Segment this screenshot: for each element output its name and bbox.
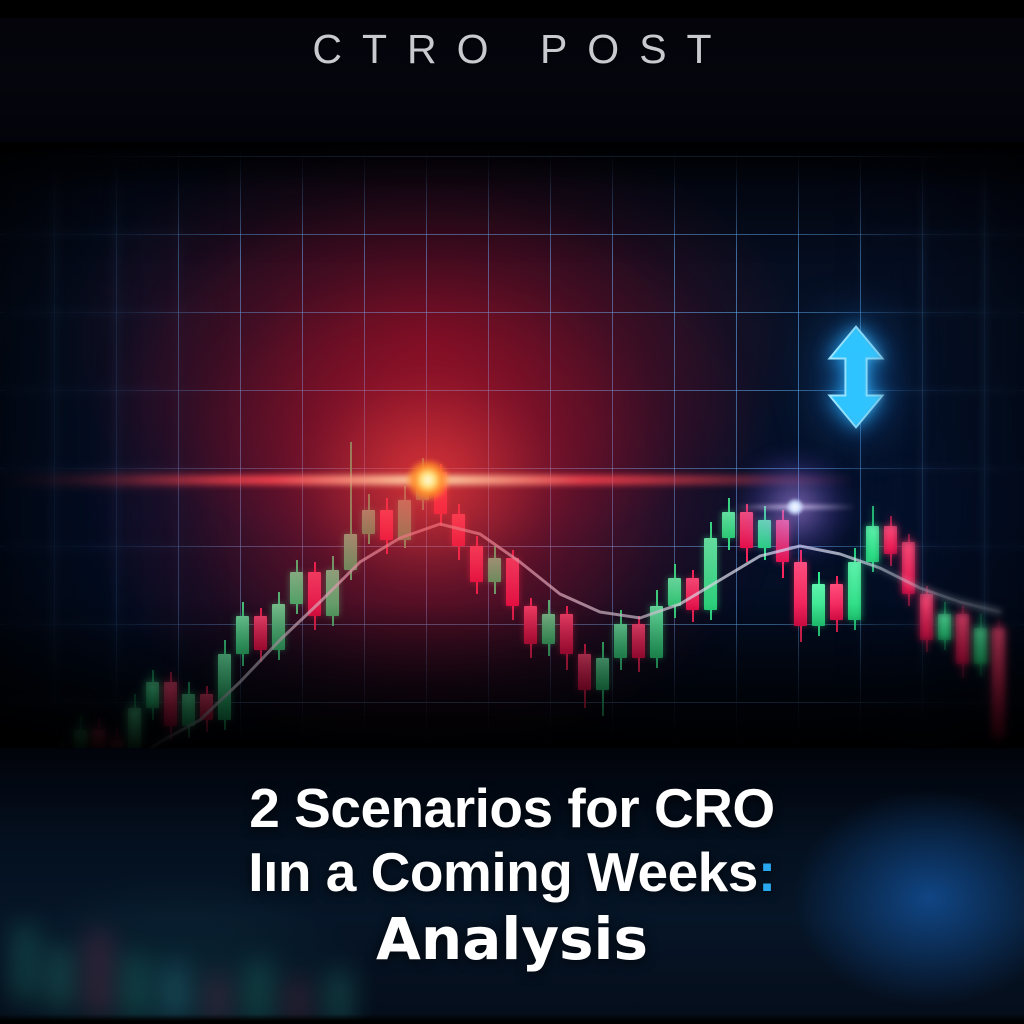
candle-body: [884, 526, 897, 554]
caption-line-2: Iın a Coming Weeks:: [0, 844, 1024, 900]
candlestick: [812, 572, 825, 636]
gridline-vertical: [798, 142, 799, 750]
candle-body: [74, 730, 87, 750]
candle-body: [182, 694, 195, 726]
candlestick: [992, 620, 1005, 750]
candle-body: [992, 628, 1005, 738]
candlestick: [866, 506, 879, 572]
candlestick: [938, 602, 951, 650]
caption-accent-colon: :: [758, 841, 776, 903]
candle-body: [794, 562, 807, 626]
candlestick: [74, 716, 87, 750]
candle-body: [920, 594, 933, 640]
candlestick: [182, 682, 195, 738]
candle-body: [902, 542, 915, 594]
arrow-up-down-top-right[interactable]: [815, 324, 897, 430]
gridline-horizontal: [0, 156, 1024, 157]
poster-canvas: CTRO POST 2 Scenarios for CRO Iın a Comi…: [0, 0, 1024, 1024]
candle-body: [866, 526, 879, 562]
header-band: CTRO POST: [0, 0, 1024, 145]
gridline-vertical: [860, 142, 861, 750]
candlestick: [920, 586, 933, 652]
gridline-vertical: [54, 142, 55, 750]
candlestick: [956, 606, 969, 678]
candle-body: [812, 584, 825, 626]
caption-line-2-text: Iın a Coming Weeks: [248, 841, 758, 903]
frame-top-edge: [0, 0, 1024, 18]
gridline-vertical: [922, 142, 923, 750]
caption-line-3: Analysis: [0, 910, 1024, 969]
candle-body: [938, 614, 951, 640]
reflected-candlestick: [162, 962, 188, 1020]
candlestick: [146, 670, 159, 720]
candle-body: [956, 614, 969, 664]
brand-title: CTRO POST: [0, 26, 1024, 73]
candlestick: [902, 534, 915, 606]
candle-body: [974, 628, 987, 664]
caption-band: 2 Scenarios for CRO Iın a Coming Weeks: …: [0, 748, 1024, 1024]
candlestick: [110, 728, 123, 750]
candlestick: [848, 548, 861, 630]
candle-body: [848, 562, 861, 620]
candlestick-chart-panel: [0, 142, 1024, 750]
candle-body: [164, 682, 177, 726]
candlestick: [164, 672, 177, 740]
caption-text-block: 2 Scenarios for CRO Iın a Coming Weeks: …: [0, 780, 1024, 969]
candle-body: [92, 730, 105, 750]
caption-line-1: 2 Scenarios for CRO: [0, 780, 1024, 836]
candle-body: [146, 682, 159, 708]
candlestick: [92, 718, 105, 750]
candle-body: [200, 694, 213, 720]
candle-body: [128, 708, 141, 750]
candlestick: [128, 694, 141, 750]
candle-body: [830, 584, 843, 620]
candlestick: [794, 550, 807, 642]
frame-bottom-edge: [0, 1014, 1024, 1024]
candlestick: [974, 614, 987, 676]
candlestick: [884, 516, 897, 566]
candlestick: [200, 686, 213, 732]
candlestick: [830, 576, 843, 632]
